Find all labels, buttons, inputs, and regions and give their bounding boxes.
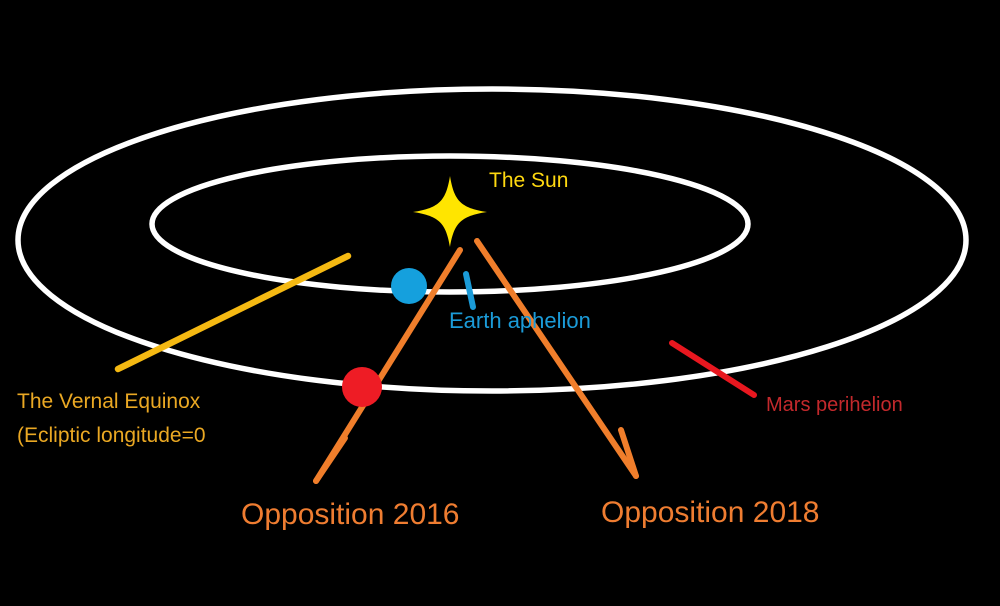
mars-perihelion-label: Mars perihelion (766, 394, 903, 416)
orbit-diagram-svg: The Sun Earth aphelion Mars perihelion T… (0, 0, 1000, 606)
vernal-equinox-label-line1: The Vernal Equinox (17, 390, 201, 413)
earth-body (391, 268, 427, 304)
opposition-2018-label: Opposition 2018 (601, 496, 820, 529)
sun-label: The Sun (489, 169, 568, 192)
mars-body (342, 367, 382, 407)
diagram-canvas: The Sun Earth aphelion Mars perihelion T… (0, 0, 1000, 606)
earth-aphelion-label: Earth aphelion (449, 308, 591, 333)
opposition-2016-label: Opposition 2016 (241, 498, 460, 531)
vernal-equinox-label-line2: (Ecliptic longitude=0 (17, 424, 206, 447)
